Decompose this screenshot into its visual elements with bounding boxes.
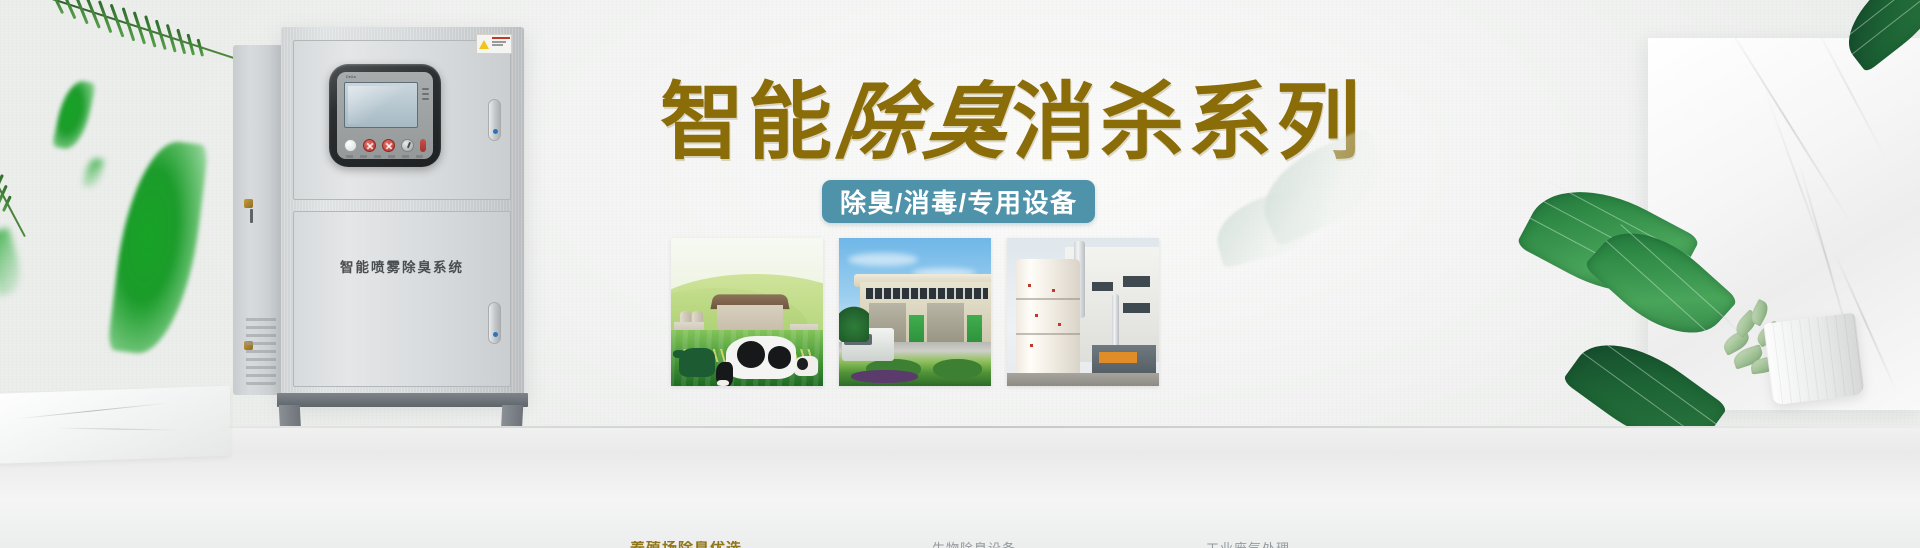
emergency-stop-button-1[interactable] bbox=[363, 139, 376, 152]
upper-door-handle bbox=[488, 99, 501, 141]
tank-mark-3 bbox=[1035, 314, 1038, 317]
tank-ring-1 bbox=[1016, 298, 1080, 300]
hmi-legend-strip bbox=[346, 155, 424, 158]
station-hedge-2 bbox=[933, 359, 982, 378]
station-flowerbed bbox=[851, 370, 918, 383]
bottom-caption-2: 生物除臭设备 bbox=[932, 541, 1016, 548]
hmi-control-panel[interactable]: Delta bbox=[329, 64, 441, 167]
plant-window-1 bbox=[1123, 276, 1150, 286]
application-thumbnail-row bbox=[671, 238, 1159, 386]
handle-lock-dot-lower-icon bbox=[493, 332, 498, 337]
high-voltage-warning-label bbox=[476, 34, 512, 54]
marble-vein-1 bbox=[1724, 38, 1849, 220]
hmi-faceplate: Delta bbox=[337, 72, 433, 159]
tank-mark-4 bbox=[1058, 323, 1061, 326]
selector-knob[interactable] bbox=[401, 139, 414, 152]
tank-mark-5 bbox=[1030, 344, 1033, 347]
latch-upper-icon bbox=[244, 199, 253, 208]
page-title: 智能除臭消杀系列 bbox=[660, 76, 1320, 168]
station-cloud-1 bbox=[848, 253, 918, 266]
cow-patch-2 bbox=[768, 346, 792, 368]
power-indicator-button[interactable] bbox=[344, 139, 357, 152]
headline-segment-1: 智能 bbox=[660, 75, 836, 169]
warning-text-lines bbox=[491, 35, 511, 53]
subtitle-badge-label: 除臭/消毒/专用设备 bbox=[840, 183, 1077, 220]
keyhole-icon bbox=[250, 209, 253, 223]
station-window-band bbox=[866, 288, 988, 298]
plant-scrubber-tank bbox=[1016, 259, 1080, 374]
spray-deodorizing-cabinet: Delta 智能喷雾除臭系统 bbox=[233, 27, 573, 437]
warning-triangle-icon bbox=[477, 35, 491, 53]
farm-cow-distant bbox=[794, 356, 818, 375]
cabinet-lower-door: 智能喷雾除臭系统 bbox=[293, 211, 511, 387]
cabinet-product-name: 智能喷雾除臭系统 bbox=[294, 256, 510, 276]
plant-ground bbox=[1007, 373, 1159, 386]
hmi-side-keys[interactable] bbox=[422, 88, 429, 103]
cabinet-base-plinth bbox=[277, 393, 528, 407]
plant-window-3 bbox=[1092, 282, 1113, 291]
lower-door-handle bbox=[488, 302, 501, 344]
hmi-button-row[interactable] bbox=[344, 139, 426, 152]
thumbnail-deodorizing-tower[interactable] bbox=[1007, 238, 1159, 386]
thumbnail-disinfection-station[interactable] bbox=[839, 238, 991, 386]
plant-window-2 bbox=[1123, 303, 1150, 313]
handle-lock-dot-icon bbox=[493, 129, 498, 134]
headline-segment-brush: 除臭 bbox=[830, 78, 1017, 170]
cow-patch-1 bbox=[737, 341, 765, 368]
emergency-stop-button-2[interactable] bbox=[382, 139, 395, 152]
thumbnail-farm-cattle[interactable] bbox=[671, 238, 823, 386]
reset-button[interactable] bbox=[420, 139, 426, 152]
tank-ring-2 bbox=[1016, 333, 1080, 335]
farm-cow-silhouette bbox=[679, 348, 715, 378]
bottom-caption-strip: 养殖场除臭优选 生物除臭设备 工业废气处理 bbox=[0, 530, 1920, 548]
cabinet-front-panel: Delta 智能喷雾除臭系统 bbox=[281, 27, 524, 399]
farm-cow-main bbox=[726, 336, 796, 386]
hmi-brand-label: Delta bbox=[346, 75, 356, 79]
marble-ledge-left-slab bbox=[0, 386, 230, 465]
bottom-caption-1: 养殖场除臭优选 bbox=[630, 541, 742, 548]
vent-grille-icon bbox=[246, 313, 276, 385]
white-plant-pot bbox=[1763, 313, 1864, 406]
subtitle-badge: 除臭/消毒/专用设备 bbox=[822, 180, 1095, 223]
tank-mark-1 bbox=[1028, 284, 1031, 287]
cow-head bbox=[716, 362, 733, 386]
tank-mark-2 bbox=[1052, 289, 1055, 292]
banner-stage: Delta 智能喷雾除臭系统 bbox=[0, 0, 1920, 548]
hmi-lcd-screen[interactable] bbox=[344, 82, 418, 128]
bottom-caption-3: 工业废气处理 bbox=[1206, 541, 1290, 548]
station-tree bbox=[839, 303, 869, 341]
